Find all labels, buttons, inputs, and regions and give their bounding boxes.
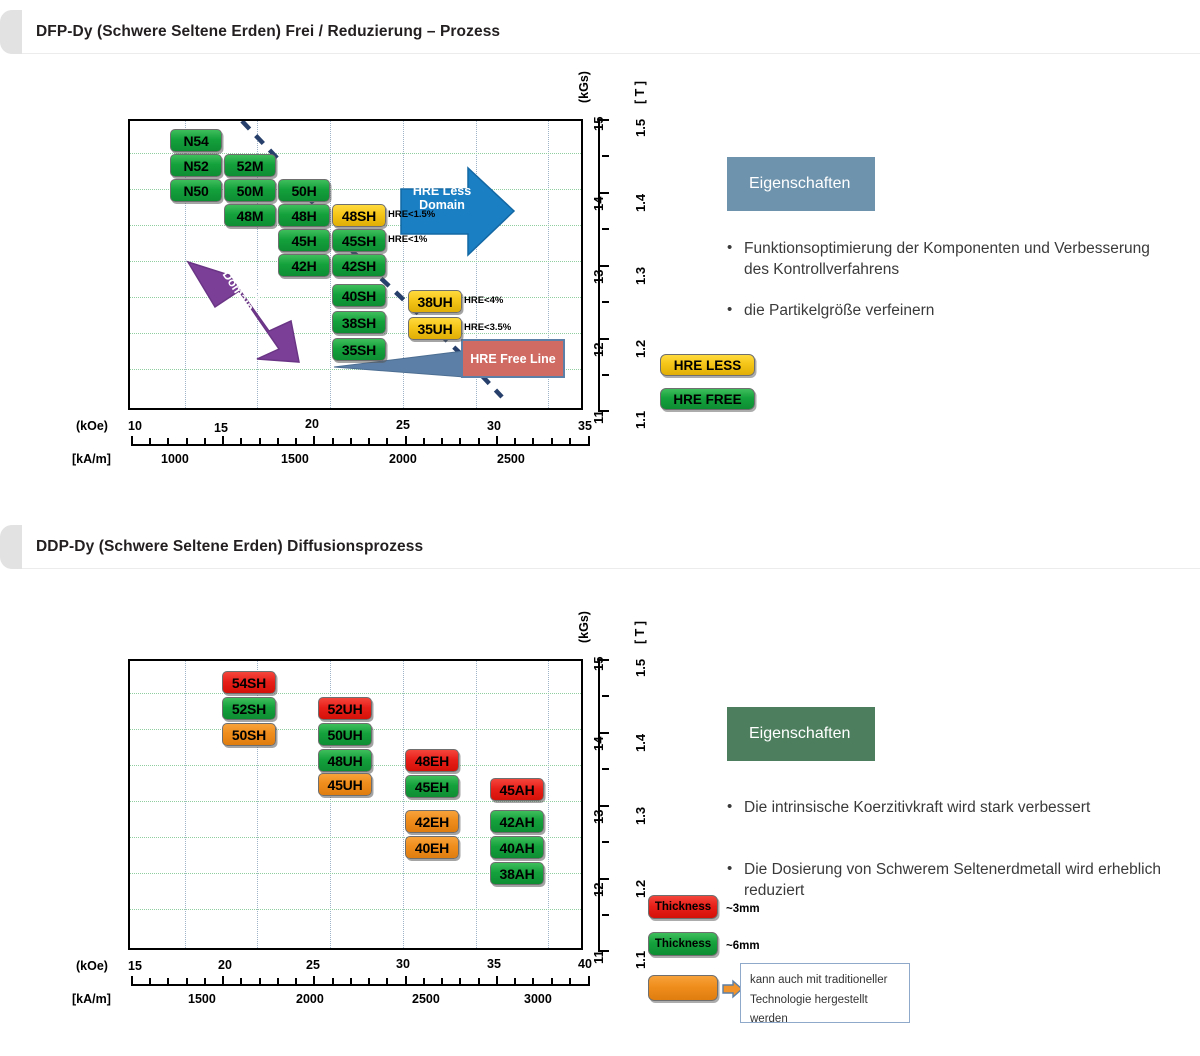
badge-45h[interactable]: 45H	[278, 229, 330, 252]
legend-thickness-3mm[interactable]: Thickness	[648, 895, 718, 919]
ytick-14: 14	[591, 197, 606, 211]
section-header-dfp: DFP-Dy (Schwere Seltene Erden) Frei / Re…	[0, 10, 1200, 54]
badge-48eh[interactable]: 48EH	[405, 749, 459, 772]
badge-48uh[interactable]: 48UH	[318, 749, 372, 772]
badge-52m[interactable]: 52M	[224, 154, 276, 177]
xtick2b-2500: 2500	[412, 992, 440, 1006]
ytick2-14: 1.4	[633, 194, 648, 212]
ytick2b-11: 1.1	[633, 951, 648, 969]
badge-50uh[interactable]: 50UH	[318, 723, 372, 746]
badge-40ah[interactable]: 40AH	[490, 836, 544, 859]
ytick2-15: 1.5	[633, 119, 648, 137]
xtick-30: 30	[487, 419, 501, 433]
panel-title-ddp: Eigenschaften	[727, 707, 875, 761]
badge-40sh[interactable]: 40SH	[332, 284, 386, 307]
badge-35uh[interactable]: 35UH	[408, 317, 462, 340]
ytick-13: 13	[591, 270, 606, 284]
ytick2-13: 1.3	[633, 267, 648, 285]
badge-45sh[interactable]: 45SH	[332, 229, 386, 252]
badge-45eh[interactable]: 45EH	[405, 775, 459, 798]
xtick2b-1500: 1500	[188, 992, 216, 1006]
header-divider	[22, 53, 1200, 54]
xaxis-unit-koe-2: (kOe)	[76, 959, 108, 973]
legend-thickness-6mm[interactable]: Thickness	[648, 932, 718, 956]
header-accent-bar	[0, 525, 22, 569]
yaxis-unit-tesla: [ T ]	[633, 81, 647, 104]
badge-40eh[interactable]: 40EH	[405, 836, 459, 859]
badge-52uh[interactable]: 52UH	[318, 697, 372, 720]
badge-48sh[interactable]: 48SH	[332, 204, 386, 227]
legend-hre-less[interactable]: HRE LESS	[660, 354, 755, 376]
ytick2b-15: 1.5	[633, 659, 648, 677]
xtick2-1500: 1500	[281, 452, 309, 466]
page-title-ddp: DDP-Dy (Schwere Seltene Erden) Diffusion…	[36, 525, 423, 569]
callout-traditional-technology: kann auch mit traditioneller Technologie…	[740, 963, 910, 1023]
hre-less-domain-label: HRE Less Domain	[406, 184, 478, 212]
annotation-hre-1: HRE<1%	[388, 234, 427, 245]
badge-48m[interactable]: 48M	[224, 204, 276, 227]
ytick2-12: 1.2	[633, 340, 648, 358]
xtickb-30: 30	[396, 957, 410, 971]
xtickb-20: 20	[218, 958, 232, 972]
panel-title-dfp: Eigenschaften	[727, 157, 875, 211]
annotation-hre-3-5: HRE<3.5%	[464, 322, 511, 333]
badge-42eh[interactable]: 42EH	[405, 810, 459, 833]
xtick-10: 10	[128, 419, 142, 433]
xtickb-15: 15	[128, 959, 142, 973]
annotation-hre-1-5: HRE<1.5%	[388, 209, 435, 220]
bullet-ddp-1: • Die intrinsische Koerzitivkraft wird s…	[727, 797, 1177, 818]
xtick-20: 20	[305, 417, 319, 431]
yaxis-unit-kgs-2: (kGs)	[577, 611, 591, 643]
xaxis-unit-koe: (kOe)	[76, 419, 108, 433]
badge-42sh[interactable]: 42SH	[332, 254, 386, 277]
ytick2-14: 14	[591, 737, 606, 751]
page-title-dfp: DFP-Dy (Schwere Seltene Erden) Frei / Re…	[36, 10, 500, 54]
legend-note-3mm: ~3mm	[726, 903, 760, 915]
xtick2b-2000: 2000	[296, 992, 324, 1006]
badge-48h[interactable]: 48H	[278, 204, 330, 227]
badge-42h[interactable]: 42H	[278, 254, 330, 277]
badge-50h[interactable]: 50H	[278, 179, 330, 202]
badge-42ah[interactable]: 42AH	[490, 810, 544, 833]
ytick2-11: 1.1	[633, 411, 648, 429]
legend-note-6mm: ~6mm	[726, 940, 760, 952]
ytick2b-13: 1.3	[633, 807, 648, 825]
section-header-ddp: DDP-Dy (Schwere Seltene Erden) Diffusion…	[0, 525, 1200, 569]
plot-area-dfp: HRE Less Domain HRE Free Domain HRE Free…	[128, 119, 583, 410]
xaxis-unit-kam: [kA/m]	[72, 452, 111, 466]
xtick-35: 35	[578, 419, 592, 433]
yaxis-unit-kgs: (kGs)	[577, 71, 591, 103]
yaxis-unit-tesla-2: [ T ]	[633, 621, 647, 644]
bullet-dfp-2: • die Partikelgröße verfeinern	[727, 300, 1177, 321]
badge-45ah[interactable]: 45AH	[490, 778, 544, 801]
xtickb-35: 35	[487, 957, 501, 971]
badge-52sh[interactable]: 52SH	[222, 697, 276, 720]
bullet-dot-icon: •	[727, 858, 732, 879]
bullet-dot-icon: •	[727, 299, 732, 320]
bullet-dot-icon: •	[727, 796, 732, 817]
badge-54sh[interactable]: 54SH	[222, 671, 276, 694]
bullet-dfp-1: • Funktionsoptimierung der Komponenten u…	[727, 238, 1177, 280]
ytick2-13: 13	[591, 810, 606, 824]
ytick2-11: 11	[591, 950, 606, 964]
bullet-ddp-2: • Die Dosierung von Schwerem Seltenerdme…	[727, 859, 1177, 901]
plot-area-ddp: 54SH 52SH 50SH 52UH 50UH 48UH 45UH 48EH …	[128, 659, 583, 950]
ytick-12: 12	[591, 343, 606, 357]
header-accent-bar	[0, 10, 22, 54]
badge-38ah[interactable]: 38AH	[490, 862, 544, 885]
badge-45uh[interactable]: 45UH	[318, 773, 372, 796]
xtick-25: 25	[396, 418, 410, 432]
legend-traditional-swatch[interactable]	[648, 975, 718, 1001]
badge-38sh[interactable]: 38SH	[332, 311, 386, 334]
hre-free-line-label: HRE Free Line	[461, 339, 565, 378]
badge-50m[interactable]: 50M	[224, 179, 276, 202]
badge-38uh[interactable]: 38UH	[408, 290, 462, 313]
ytick-11: 11	[591, 410, 606, 424]
badge-n50[interactable]: N50	[170, 179, 222, 202]
header-divider	[22, 568, 1200, 569]
ytick2b-14: 1.4	[633, 734, 648, 752]
xtick2-1000: 1000	[161, 452, 189, 466]
badge-50sh[interactable]: 50SH	[222, 723, 276, 746]
badge-n54[interactable]: N54	[170, 129, 222, 152]
xtickb-25: 25	[306, 958, 320, 972]
xtickb-40: 40	[578, 957, 592, 971]
annotation-hre-4: HRE<4%	[464, 295, 503, 306]
ytick2-12: 12	[591, 883, 606, 897]
xtick2-2000: 2000	[389, 452, 417, 466]
badge-35sh[interactable]: 35SH	[332, 338, 386, 361]
xtick2b-3000: 3000	[524, 992, 552, 1006]
xtick-15: 15	[214, 421, 228, 435]
badge-n52[interactable]: N52	[170, 154, 222, 177]
xtick2-2500: 2500	[497, 452, 525, 466]
legend-hre-free[interactable]: HRE FREE	[660, 388, 755, 410]
xaxis-unit-kam-2: [kA/m]	[72, 992, 111, 1006]
ytick2b-12: 1.2	[633, 880, 648, 898]
bullet-dot-icon: •	[727, 237, 732, 258]
